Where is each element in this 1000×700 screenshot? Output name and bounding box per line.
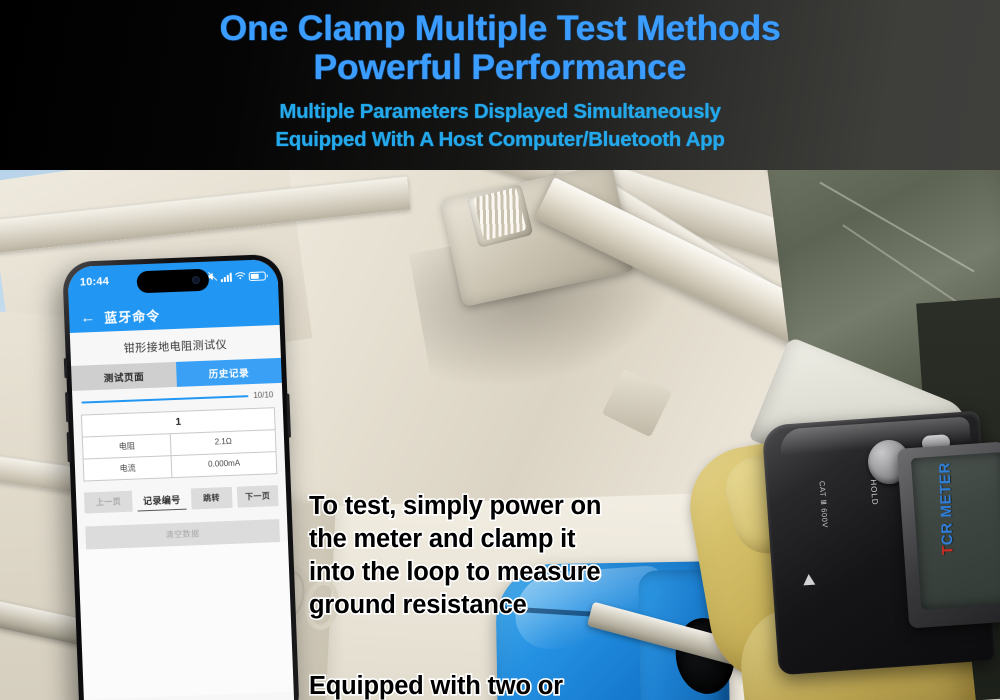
wifi-icon — [234, 267, 246, 285]
meter-brand-label: TCR METER — [936, 462, 956, 555]
progress-bar[interactable] — [81, 395, 248, 403]
record-table: 1 电阻 2.1Ω 电流 0.000mA — [81, 407, 277, 481]
phone-screen: 10:44 ← 蓝牙命令 — [67, 259, 295, 700]
tab-test-page[interactable]: 测试页面 — [71, 362, 177, 391]
row-label-current: 电流 — [84, 456, 173, 480]
subheadline-line-1: Multiple Parameters Displayed Simultaneo… — [279, 99, 720, 124]
dynamic-island — [136, 269, 209, 294]
caption-wire-options: Equipped with two or three wires to acco… — [309, 670, 574, 700]
caption-line: Equipped with two or — [309, 670, 574, 700]
phone-volume-down[interactable] — [67, 432, 71, 462]
front-camera-icon — [192, 276, 200, 284]
meter-hold-label: HOLD — [869, 479, 880, 506]
content-spacer — [78, 542, 294, 700]
caption-line: To test, simply power on — [309, 490, 601, 523]
pagination-row: 上一页 记录编号 跳转 下一页 — [76, 474, 287, 514]
meter-brand-text: CR METER — [936, 462, 956, 546]
row-value-resistance: 2.1Ω — [171, 430, 275, 455]
headline-line-1: One Clamp Multiple Test Methods — [219, 10, 780, 48]
phone-volume-up[interactable] — [65, 392, 69, 422]
mute-icon — [207, 268, 218, 286]
caption-how-to-test: To test, simply power on the meter and c… — [309, 490, 601, 622]
phone-mockup: 10:44 ← 蓝牙命令 — [62, 254, 300, 700]
meter-brand-prefix: T — [939, 545, 956, 555]
caption-line: into the loop to measure — [309, 556, 601, 589]
tab-history-log[interactable]: 历史记录 — [176, 358, 282, 387]
status-bar-time: 10:44 — [80, 275, 110, 288]
signal-bars-icon — [221, 272, 232, 281]
phone-mute-switch[interactable] — [64, 358, 68, 378]
next-page-button[interactable]: 下一页 — [237, 485, 279, 508]
caption-line: the meter and clamp it — [309, 523, 601, 556]
caption-line: ground resistance — [309, 589, 601, 622]
battery-icon — [249, 271, 266, 281]
record-number-input[interactable]: 记录编号 — [137, 489, 186, 512]
app-content: 钳形接地电阻测试仪 测试页面 历史记录 10/10 1 电阻 2.1Ω — [70, 325, 295, 700]
header-banner: One Clamp Multiple Test Methods Powerful… — [0, 0, 1000, 170]
progress-label: 10/10 — [253, 390, 273, 400]
headline-line-2: Powerful Performance — [314, 49, 687, 87]
jump-button[interactable]: 跳转 — [191, 487, 233, 510]
status-bar-icons — [207, 266, 266, 286]
row-value-current: 0.000mA — [172, 452, 276, 477]
product-banner: One Clamp Multiple Test Methods Powerful… — [0, 0, 1000, 700]
subheadline-line-2: Equipped With A Host Computer/Bluetooth … — [275, 127, 724, 152]
warning-triangle-icon — [803, 574, 816, 586]
app-bar-title: 蓝牙命令 — [104, 305, 161, 326]
prev-page-button[interactable]: 上一页 — [84, 491, 133, 514]
row-label-resistance: 电阻 — [83, 434, 172, 458]
back-arrow-icon[interactable]: ← — [80, 309, 96, 325]
